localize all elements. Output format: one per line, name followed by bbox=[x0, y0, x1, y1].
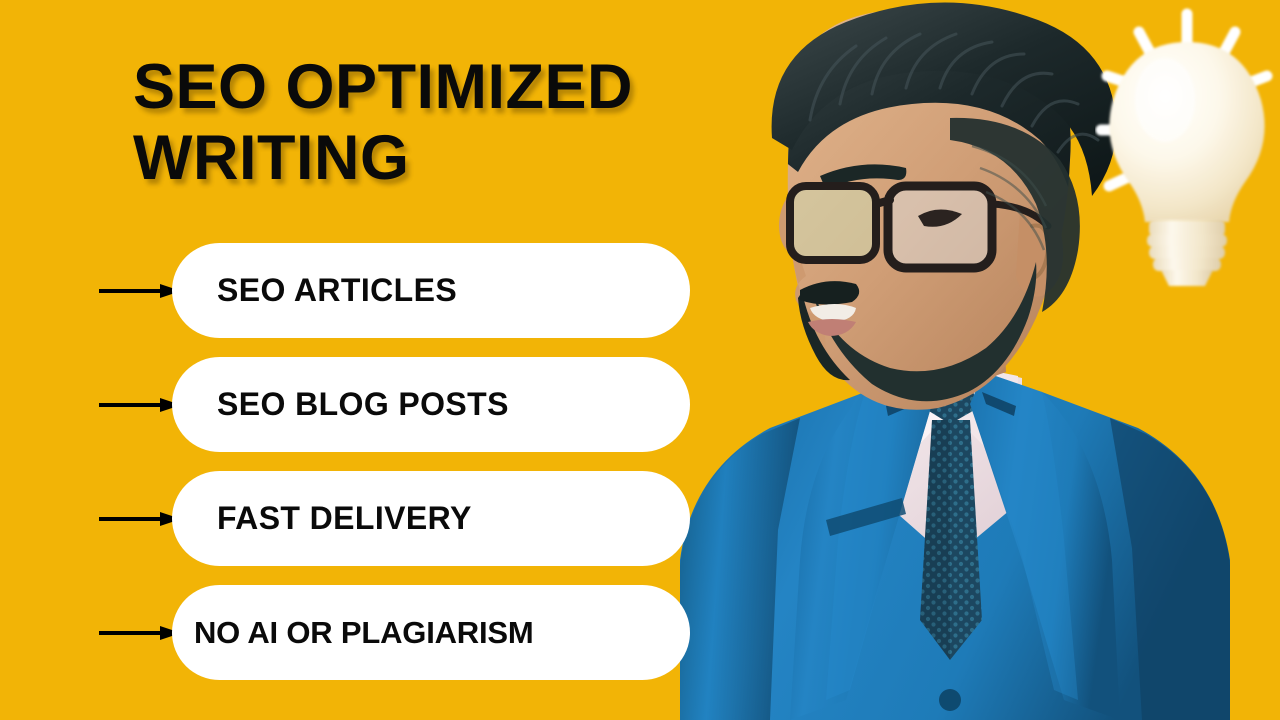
feature-pill[interactable]: NO AI OR PLAGIARISM bbox=[172, 585, 690, 680]
arrow-right-icon bbox=[98, 511, 182, 527]
lightbulb-icon bbox=[1095, 0, 1280, 290]
list-item[interactable]: SEO BLOG POSTS bbox=[0, 357, 700, 452]
feature-label: SEO BLOG POSTS bbox=[172, 386, 527, 423]
feature-list: SEO ARTICLES SEO BLOG POSTS FAST DELIVER… bbox=[0, 243, 700, 699]
feature-pill[interactable]: FAST DELIVERY bbox=[172, 471, 690, 566]
arrow-right-icon bbox=[98, 397, 182, 413]
arrow-right-icon bbox=[98, 283, 182, 299]
arrow-right-icon bbox=[98, 625, 182, 641]
feature-label: SEO ARTICLES bbox=[172, 272, 475, 309]
list-item[interactable]: FAST DELIVERY bbox=[0, 471, 700, 566]
feature-label: FAST DELIVERY bbox=[172, 500, 490, 537]
list-item[interactable]: NO AI OR PLAGIARISM bbox=[0, 585, 700, 680]
feature-label: NO AI OR PLAGIARISM bbox=[172, 615, 552, 651]
list-item[interactable]: SEO ARTICLES bbox=[0, 243, 700, 338]
page-title: SEO OPTIMIZED WRITING bbox=[133, 52, 773, 193]
feature-pill[interactable]: SEO ARTICLES bbox=[172, 243, 690, 338]
feature-pill[interactable]: SEO BLOG POSTS bbox=[172, 357, 690, 452]
seo-service-banner: SEO OPTIMIZED WRITING SEO ARTICLES SEO B… bbox=[0, 0, 1280, 720]
